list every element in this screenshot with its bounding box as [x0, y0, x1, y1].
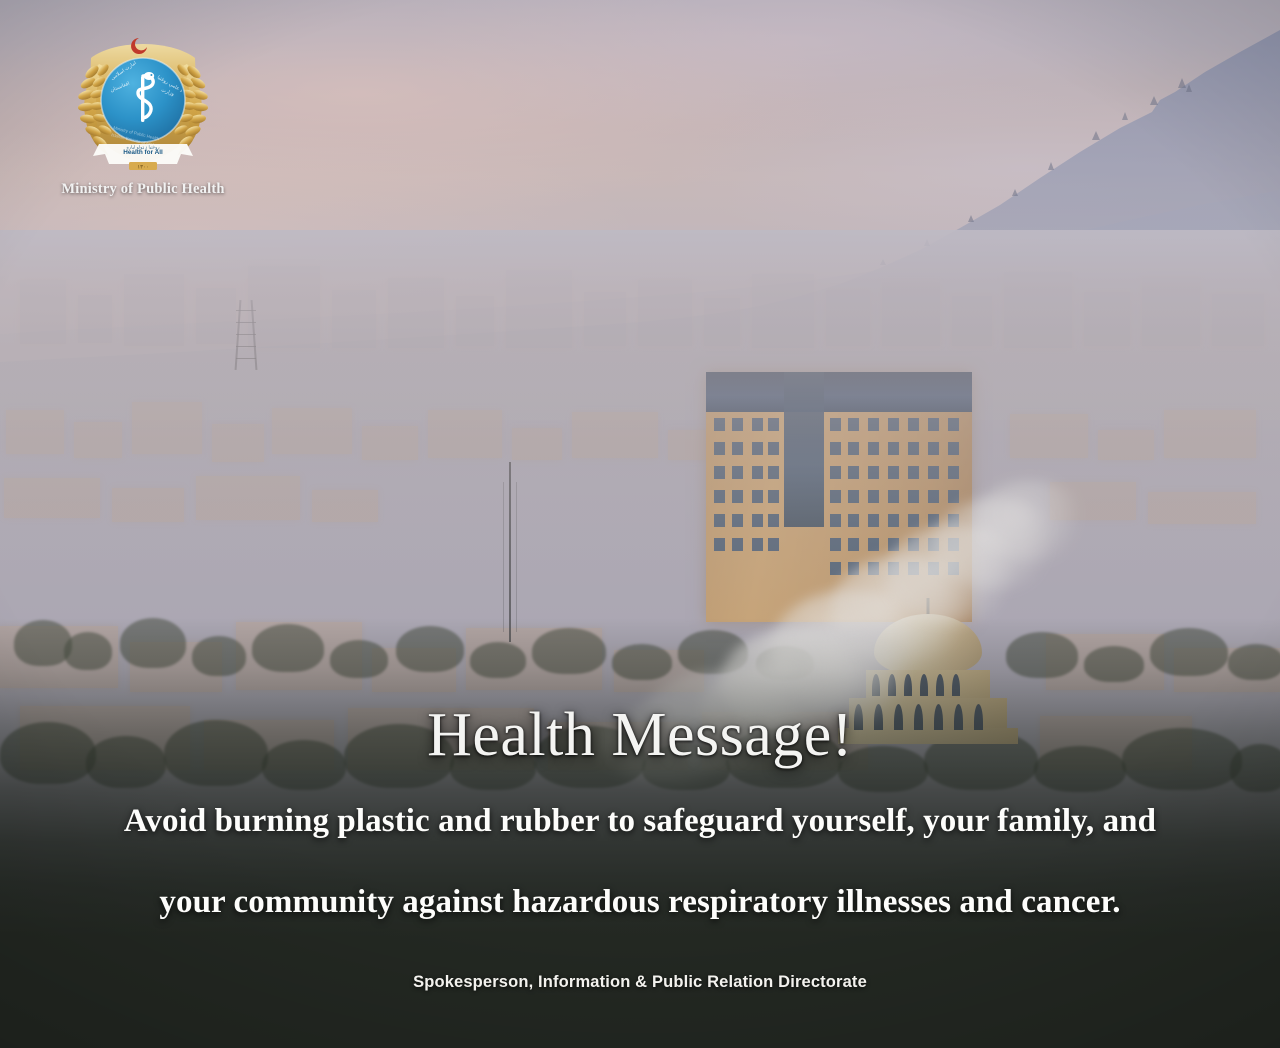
svg-text:١٣٠٠: ١٣٠٠ [137, 164, 149, 170]
health-for-all-banner: Health for All روغتیا د ټولو لپاره ١٣٠٠ [93, 144, 193, 170]
page-title: Health Message! [0, 700, 1280, 771]
health-message-poster: امارت اسلامی د عامې روغتیا افغانستان وزا… [0, 0, 1280, 1048]
credit-line: Spokesperson, Information & Public Relat… [0, 973, 1280, 992]
ministry-name-label: Ministry of Public Health [53, 181, 233, 198]
svg-text:Health for All: Health for All [123, 149, 163, 156]
message-line-2: your community against hazardous respira… [0, 884, 1280, 921]
ministry-of-public-health-emblem-icon: امارت اسلامی د عامې روغتیا افغانستان وزا… [69, 36, 217, 178]
ministry-logo-block: امارت اسلامی د عامې روغتیا افغانستان وزا… [53, 36, 233, 198]
message-line-1: Avoid burning plastic and rubber to safe… [0, 803, 1280, 840]
